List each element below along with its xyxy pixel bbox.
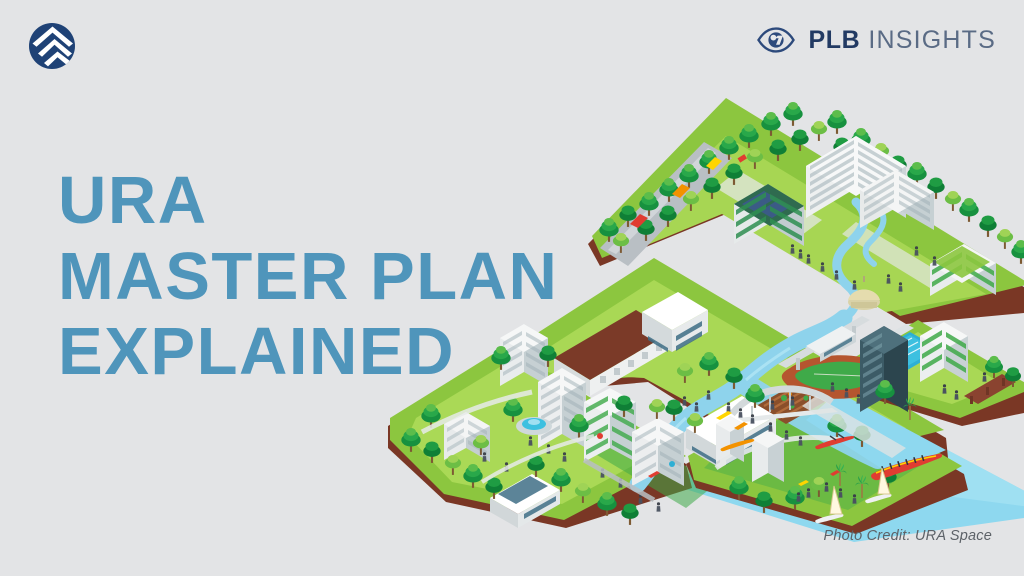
photo-credit: Photo Credit: URA Space [824,528,992,544]
brand-logo [28,22,76,70]
plb-wordmark-bold: PLB [809,28,861,53]
circle-chevron-mountain-logo-icon [28,22,76,70]
eye-icon [756,26,796,54]
plb-wordmark-light: INSIGHTS [868,28,996,53]
page-title-line-3: EXPLAINED [58,314,558,390]
page-title-line-1: URA [58,163,558,239]
plb-insights-wordmark: PLB INSIGHTS [809,28,996,53]
slide-canvas: PLB INSIGHTS URA MASTER PLAN EXPLAINED [0,0,1024,576]
park-plaza-with-fountain [516,417,552,435]
plb-insights-lockup: PLB INSIGHTS [756,26,996,54]
page-title-line-2: MASTER PLAN [58,239,558,315]
page-title: URA MASTER PLAN EXPLAINED [58,163,558,390]
